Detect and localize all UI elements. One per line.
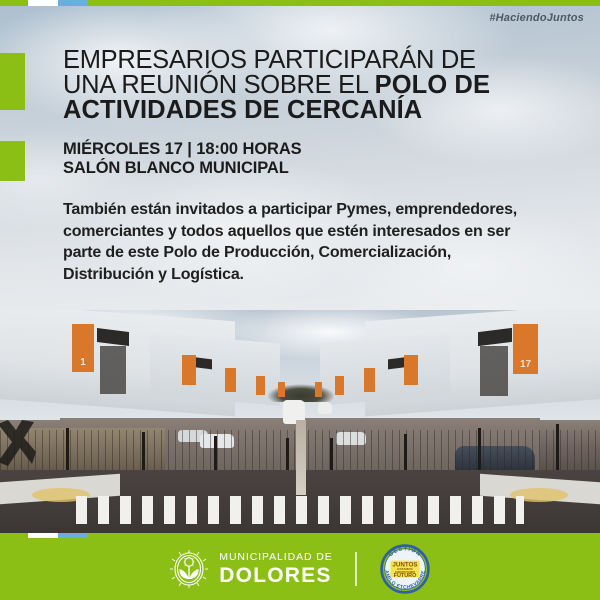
- unit-marker-left: 1: [72, 324, 94, 372]
- event-venue: SALÓN BLANCO MUNICIPAL: [63, 159, 289, 177]
- warehouse-door-right: [480, 346, 508, 396]
- unit-marker-r2: [404, 355, 418, 385]
- unit-marker-l5: [278, 382, 285, 397]
- municipality-line-2: DOLORES: [219, 565, 332, 586]
- unit-number-left: 1: [72, 357, 94, 368]
- warehouse-door-left: [100, 346, 126, 394]
- municipality-wordmark: MUNICIPALIDAD DE DOLORES: [219, 552, 332, 586]
- van-center: [318, 402, 332, 414]
- event-description: También están invitados a participar Pym…: [63, 199, 533, 285]
- headline-line-1: EMPRESARIOS PARTICIPARÁN DE: [63, 46, 476, 74]
- top-flag-strip: [0, 0, 600, 6]
- crosswalk-stripes: [76, 496, 524, 524]
- footer-divider: [355, 552, 357, 586]
- footer-content: MUNICIPALIDAD DE DOLORES GESTIÓN CA: [0, 538, 600, 600]
- industrial-park-render: 1 17: [0, 310, 600, 535]
- gestion-seal-icon: GESTIÓN CAMILO ETCHEVARREN JUNTOS ESTAMO…: [379, 543, 431, 595]
- accent-bar-top: [0, 53, 25, 110]
- hashtag-label: #HaciendoJuntos: [489, 12, 584, 24]
- page-title: EMPRESARIOS PARTICIPARÁN DE UNA REUNIÓN …: [63, 48, 563, 123]
- unit-marker-r3: [364, 368, 375, 392]
- event-meta: MIÉRCOLES 17 | 18:00 HORAS SALÓN BLANCO …: [63, 140, 563, 178]
- headline-line-2-bold: POLO DE: [375, 71, 490, 99]
- poster-canvas: #HaciendoJuntos EMPRESARIOS PARTICIPARÁN…: [0, 0, 600, 600]
- unit-marker-l4: [256, 376, 265, 395]
- center-median: [296, 420, 306, 495]
- municipality-line-1: MUNICIPALIDAD DE: [219, 552, 332, 563]
- unit-marker-r5: [315, 382, 322, 397]
- event-datetime: MIÉRCOLES 17 | 18:00 HORAS: [63, 140, 302, 158]
- flag-segment-white: [28, 0, 58, 6]
- municipality-logo: MUNICIPALIDAD DE DOLORES: [169, 549, 332, 589]
- footer-bar: MUNICIPALIDAD DE DOLORES GESTIÓN CA: [0, 533, 600, 600]
- headline-line-3-bold: ACTIVIDADES DE CERCANÍA: [63, 96, 422, 124]
- municipality-crest-icon: [169, 549, 209, 589]
- unit-marker-l3: [225, 368, 236, 392]
- unit-marker-r4: [335, 376, 344, 395]
- unit-marker-l2: [182, 355, 196, 385]
- seal-center-line-4: FUTURO: [393, 573, 416, 579]
- flag-segment-blue: [58, 0, 88, 6]
- text-content-block: EMPRESARIOS PARTICIPARÁN DE UNA REUNIÓN …: [63, 48, 563, 285]
- unit-marker-right: 17: [513, 324, 538, 374]
- x-sculpture-icon: [0, 418, 36, 470]
- accent-bar-bottom: [0, 141, 25, 181]
- unit-number-right: 17: [513, 359, 538, 370]
- headline-line-2-regular: UNA REUNIÓN SOBRE EL: [63, 71, 375, 99]
